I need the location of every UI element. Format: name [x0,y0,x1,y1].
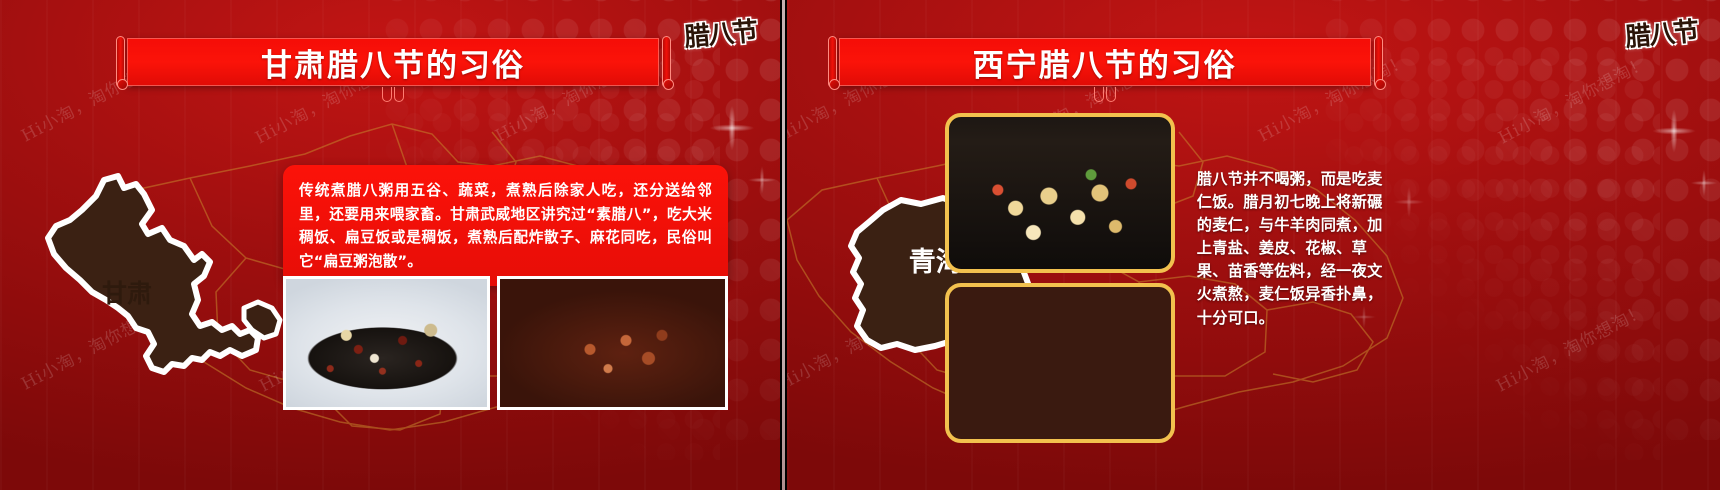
slide-deck: Hi小淘，淘你想淘！ Hi小淘，淘你想淘！ Hi小淘，淘你想淘！ Hi小淘，淘你… [0,0,1720,490]
photo-content [949,117,1171,269]
wheat-berry-wok-photo[interactable] [945,113,1175,273]
scroll-roll-left-icon [113,34,127,90]
laba-congee-plate-photo[interactable] [283,276,490,410]
banner-tassel-icon [1094,87,1116,103]
laba-festival-logo: 腊八节 [683,11,758,54]
page-title: 西宁腊八节的习俗 [973,40,1237,85]
watermark: Hi小淘，淘你想淘！ [1493,48,1652,148]
slide-divider [780,0,787,490]
slide-xining: Hi小淘，淘你想淘！ Hi小淘，淘你想淘！ Hi小淘，淘你想淘！ Hi小淘，淘你… [787,0,1720,490]
sparkle-icon [1643,100,1705,162]
scroll-roll-left-icon [825,34,839,90]
photo-content [500,279,725,407]
scroll-roll-right-icon [1371,34,1385,90]
sparkle-icon [742,160,780,200]
gansu-silhouette-icon [44,158,294,398]
watermark: Hi小淘，淘你想淘！ [1491,296,1650,396]
photo-content [949,287,1171,439]
sparkle-icon [1685,164,1720,202]
wheat-berry-plate-photo[interactable] [945,283,1175,443]
title-banner-xining: 西宁腊八节的习俗 [825,34,1385,90]
province-label-gansu: 甘肃 [102,274,152,310]
banner-tassel-icon [382,87,404,103]
laba-festival-logo: 腊八节 [1623,11,1698,54]
title-banner-gansu: 甘肃腊八节的习俗 [113,34,673,90]
slide-gansu: Hi小淘，淘你想淘！ Hi小淘，淘你想淘！ Hi小淘，淘你想淘！ Hi小淘，淘你… [0,0,780,490]
red-bean-soup-bowl-photo[interactable] [497,276,728,410]
page-title: 甘肃腊八节的习俗 [261,40,525,85]
description-text: 传统煮腊八粥用五谷、蔬菜，煮熟后除家人吃，还分送给邻里，还要用来喂家畜。甘肃武威… [299,179,712,274]
description-card-gansu: 传统煮腊八粥用五谷、蔬菜，煮熟后除家人吃，还分送给邻里，还要用来喂家畜。甘肃武威… [283,165,728,286]
sparkle-icon [1387,180,1431,224]
sparkle-icon [700,96,764,160]
scroll-roll-right-icon [659,34,673,90]
description-text-xining: 腊八节并不喝粥，而是吃麦仁饭。腊月初七晚上将新碾的麦仁，与牛羊肉同煮，加上青盐、… [1197,168,1392,330]
province-shape-gansu: 甘肃 [44,158,294,398]
photo-content [286,279,487,407]
